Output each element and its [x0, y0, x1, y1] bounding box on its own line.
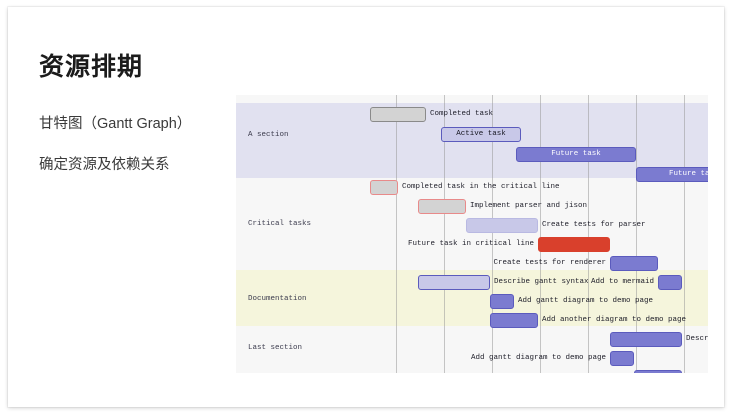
- gantt-task-bar[interactable]: Future task2: [636, 167, 708, 182]
- bullet-line-1: 甘特图（Gantt Graph）: [39, 112, 191, 133]
- gantt-task-label: Add another diagram to demo page: [236, 370, 630, 373]
- gantt-task-label: Create tests for renderer: [236, 256, 606, 271]
- gantt-task-bar[interactable]: [490, 313, 538, 328]
- page-title: 资源排期: [39, 47, 143, 83]
- gridline-3: [540, 95, 541, 373]
- gridline-4: [588, 95, 589, 373]
- gridline-0: [396, 95, 397, 373]
- gridline-6: [684, 95, 685, 373]
- gantt-task-bar[interactable]: [466, 218, 538, 233]
- gantt-task-bar[interactable]: [370, 180, 398, 195]
- gantt-task-bar[interactable]: [610, 256, 658, 271]
- gantt-task-label: Active task: [442, 128, 520, 140]
- gantt-task-label: Add gantt diagram to demo page: [518, 294, 653, 309]
- gantt-task-bar[interactable]: Future task: [516, 147, 636, 162]
- gantt-task-bar[interactable]: Active task: [441, 127, 521, 142]
- gantt-section-label: Critical tasks: [248, 220, 311, 228]
- slide-canvas: 资源排期 甘特图（Gantt Graph） 确定资源及依赖关系 A sectio…: [8, 7, 724, 407]
- gantt-task-label: Describe gantt syntax: [686, 332, 708, 347]
- gantt-section-label: Documentation: [248, 295, 307, 303]
- gantt-task-label: Completed task in the critical line: [402, 180, 560, 195]
- gantt-task-label: Add gantt diagram to demo page: [236, 351, 606, 366]
- gantt-task-label: Implement parser and jison: [470, 199, 587, 214]
- gantt-section-label: A section: [248, 131, 289, 139]
- gantt-task-label: Completed task: [430, 107, 493, 122]
- gantt-task-label: Add another diagram to demo page: [542, 313, 686, 328]
- gantt-task-label: Future task2: [637, 168, 708, 180]
- gantt-task-label: Future task: [517, 148, 635, 160]
- gantt-task-bar[interactable]: [370, 107, 426, 122]
- gantt-task-bar[interactable]: [538, 237, 610, 252]
- gantt-task-label: Create tests for parser: [542, 218, 646, 233]
- gantt-task-bar[interactable]: [658, 275, 682, 290]
- gantt-task-bar[interactable]: [634, 370, 682, 373]
- gantt-task-bar[interactable]: [610, 332, 682, 347]
- gantt-task-bar[interactable]: [418, 275, 490, 290]
- gantt-task-label: Future task in critical line: [236, 237, 534, 252]
- gantt-task-bar[interactable]: [490, 294, 514, 309]
- gantt-task-bar[interactable]: [418, 199, 466, 214]
- gantt-task-label: Describe gantt syntax: [494, 275, 589, 290]
- bullet-line-2: 确定资源及依赖关系: [39, 153, 170, 174]
- gantt-task-bar[interactable]: [610, 351, 634, 366]
- gantt-chart: A sectionCompleted taskActive taskFuture…: [236, 95, 708, 373]
